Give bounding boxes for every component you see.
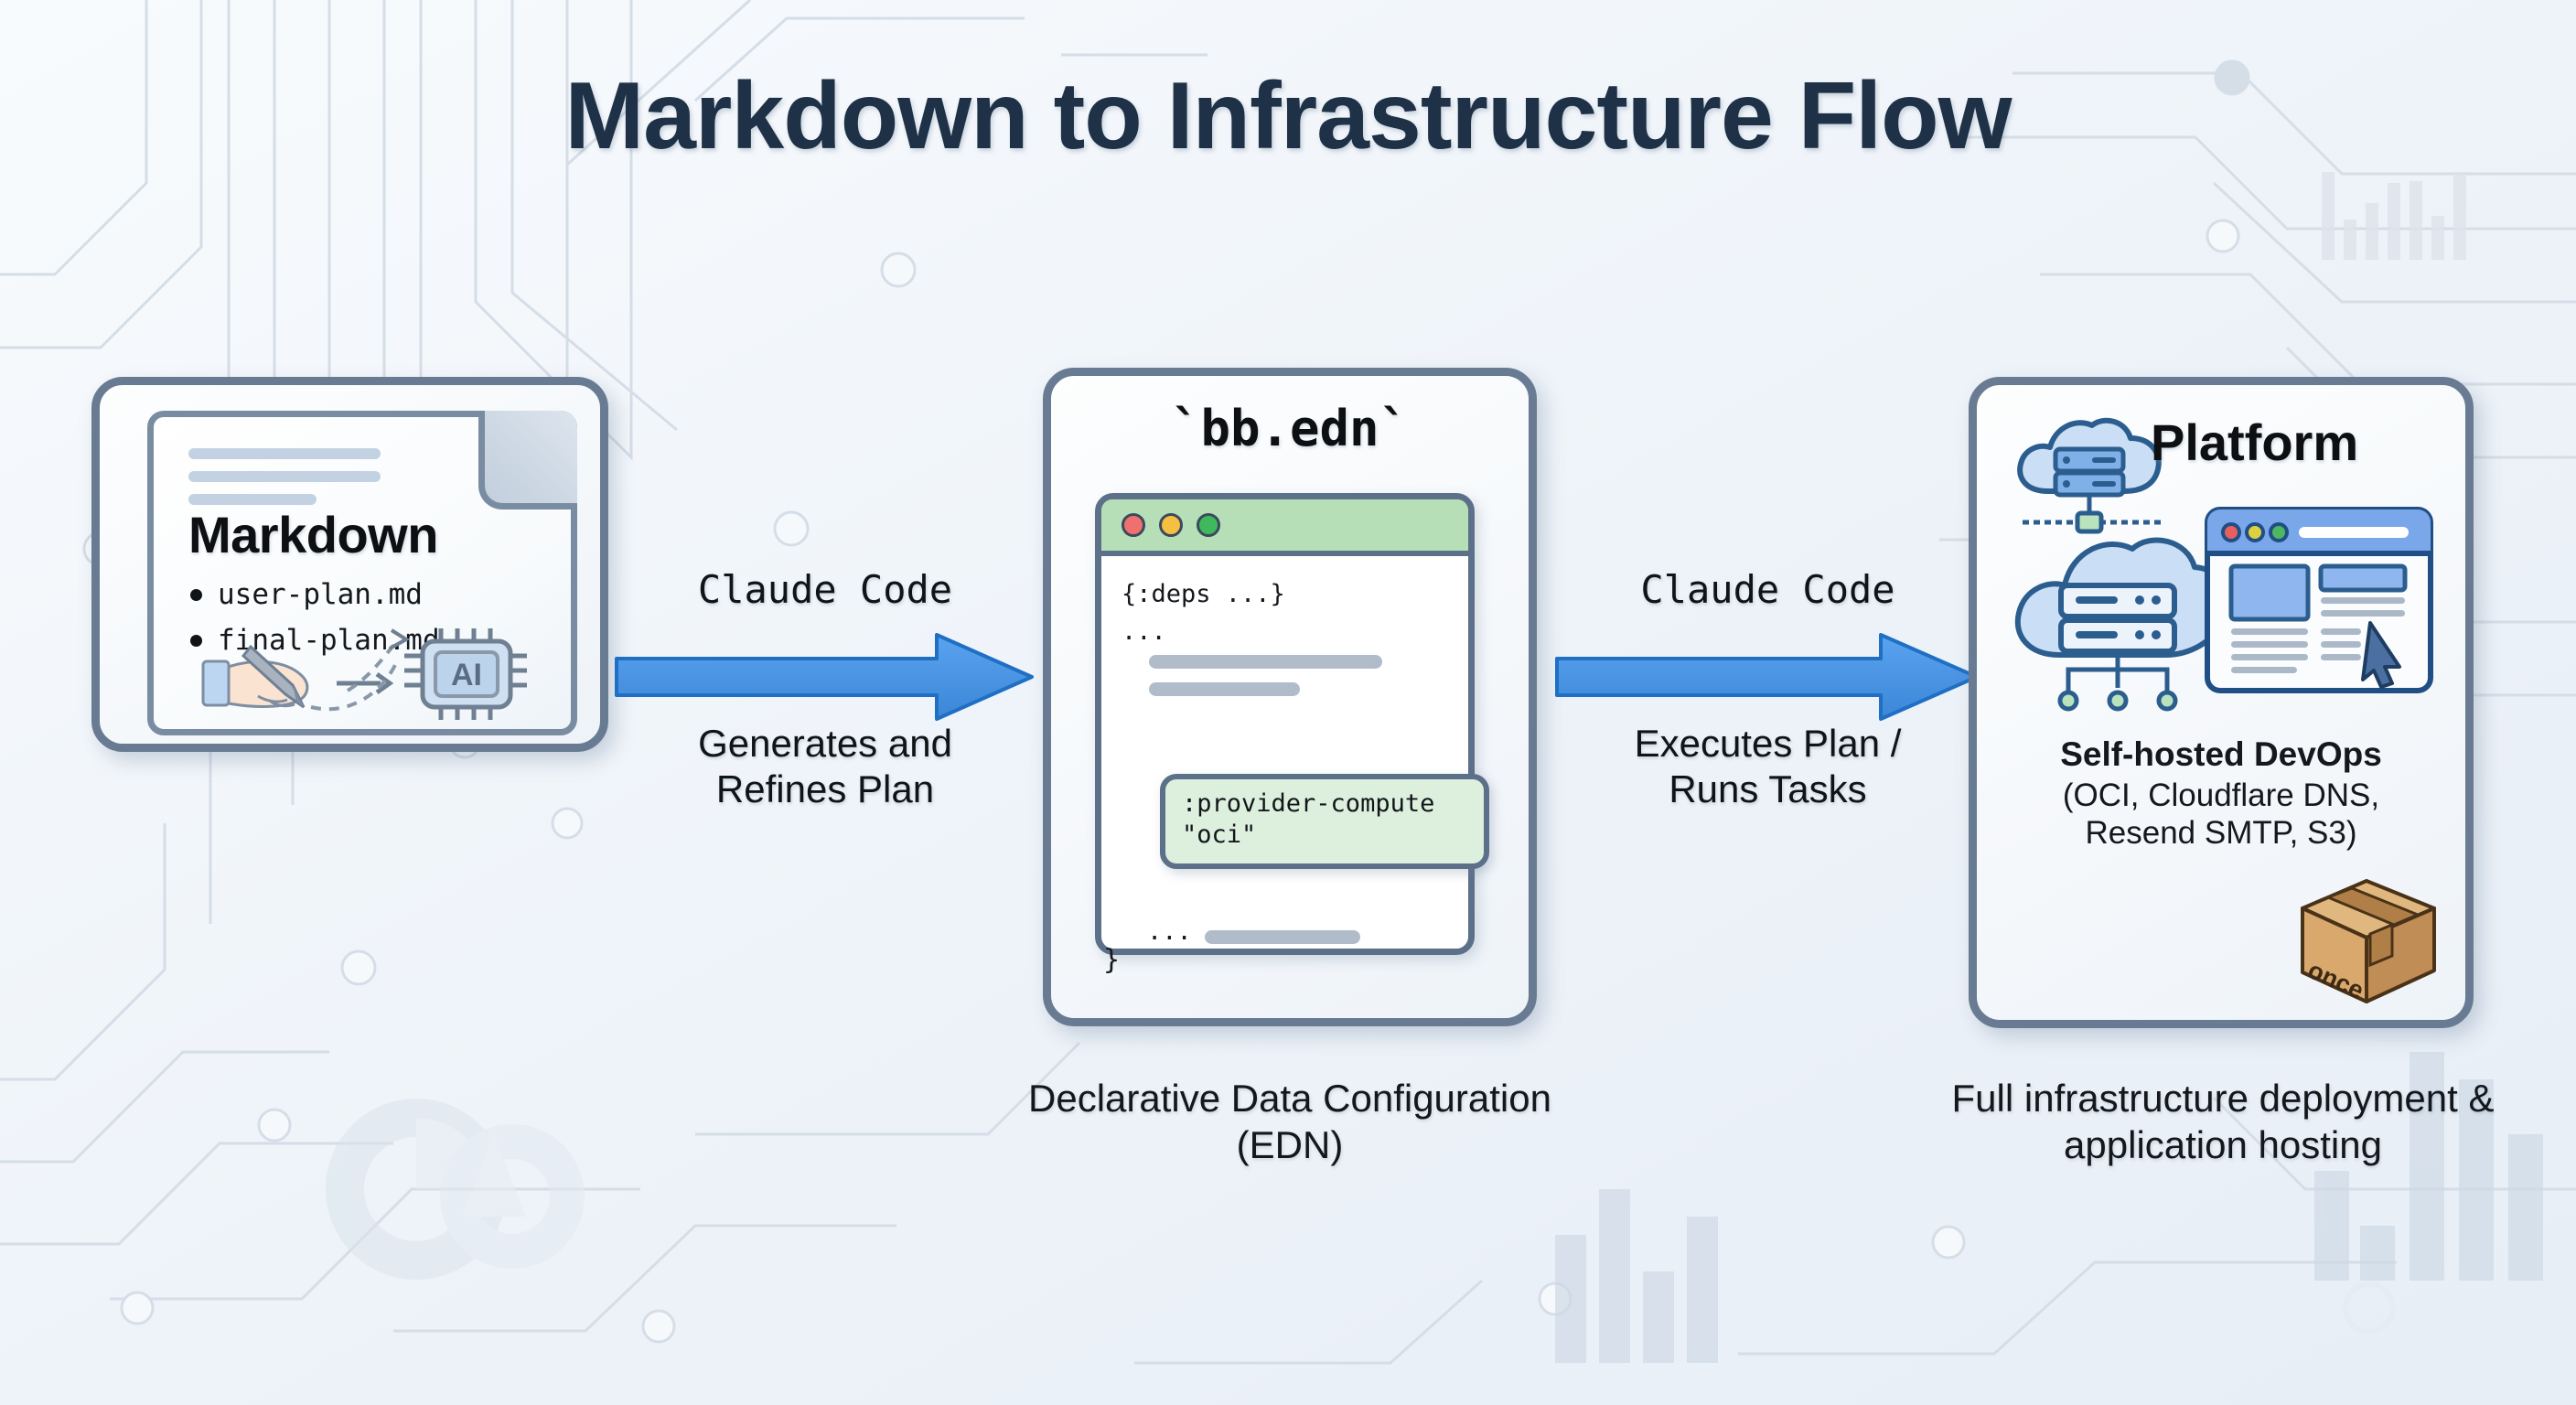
edn-heading: `bb.edn` <box>1051 400 1529 457</box>
code-tail-ellipsis: ... <box>1147 917 1192 946</box>
blue-arrow-icon <box>1555 631 1980 723</box>
provider-compute-highlight: :provider-compute "oci" <box>1160 774 1489 869</box>
arrow-top-label: Claude Code <box>1555 567 1980 612</box>
ai-chip-label: AI <box>451 658 482 692</box>
code-body: {:deps ...} ... ... } <box>1101 556 1468 696</box>
card-bb-edn[interactable]: `bb.edn` {:deps ...} ... ... <box>1043 368 1537 1026</box>
code-window-titlebar <box>1101 499 1468 556</box>
platform-subtitle-line3: Resend SMTP, S3) <box>2086 815 2357 851</box>
arrow-bottom-line2: Runs Tasks <box>1669 767 1866 810</box>
card-markdown[interactable]: Markdown user-plan.md final-plan.md <box>91 377 608 752</box>
card-platform[interactable]: Platform <box>1969 377 2474 1028</box>
caption-edn-text: Declarative Data Configuration (EDN) <box>1028 1077 1551 1166</box>
markdown-heading: Markdown <box>188 505 438 564</box>
code-placeholder-bar <box>1149 682 1300 696</box>
traffic-light-red-icon[interactable] <box>1122 513 1145 537</box>
platform-heading: Platform <box>2151 413 2358 472</box>
arrow-bottom-line1: Generates and <box>698 722 952 765</box>
caption-edn: Declarative Data Configuration (EDN) <box>970 1075 1610 1168</box>
diagram-stage: Markdown to Infrastructure Flow Markdown… <box>0 0 2576 1405</box>
platform-subtitle: Self-hosted DevOps (OCI, Cloudflare DNS,… <box>1977 735 2465 852</box>
document-page: Markdown user-plan.md final-plan.md <box>147 411 577 735</box>
page-title: Markdown to Infrastructure Flow <box>0 62 2576 171</box>
arrow-top-label: Claude Code <box>615 567 1036 612</box>
platform-subtitle-line2: (OCI, Cloudflare DNS, <box>2063 778 2379 813</box>
cloud-infrastructure-icon <box>2004 509 2233 728</box>
arrow-bottom-label: Executes Plan / Runs Tasks <box>1555 721 1980 811</box>
arrow-bottom-line1: Executes Plan / <box>1635 722 1902 765</box>
code-closing-brace: } <box>1103 944 1131 976</box>
page-fold-corner <box>478 411 577 509</box>
browser-window-icon <box>2204 506 2434 694</box>
blue-arrow-icon <box>615 631 1036 723</box>
highlight-line-2: "oci" <box>1182 820 1471 851</box>
code-window: {:deps ...} ... ... } <box>1095 493 1475 955</box>
caption-platform: Full infrastructure deployment & applica… <box>1939 1075 2506 1168</box>
traffic-light-green-icon[interactable] <box>1197 513 1220 537</box>
code-line-deps: {:deps ...} <box>1122 580 1468 608</box>
code-placeholder-bar <box>1149 655 1382 669</box>
code-tail: ... } <box>1101 917 1468 976</box>
list-item: user-plan.md <box>190 578 440 611</box>
code-line-ellipsis: ... <box>1122 617 1468 646</box>
package-box-icon: once <box>2292 868 2445 1007</box>
platform-subtitle-strong: Self-hosted DevOps <box>1977 735 2465 775</box>
caption-platform-text: Full infrastructure deployment & applica… <box>1952 1077 2495 1166</box>
arrow-bottom-label: Generates and Refines Plan <box>615 721 1036 811</box>
traffic-light-yellow-icon[interactable] <box>1159 513 1183 537</box>
hand-writing-to-ai-chip-icon: AI <box>201 625 540 724</box>
highlight-line-1: :provider-compute <box>1182 788 1471 820</box>
code-placeholder-bar <box>1205 930 1360 944</box>
arrow-bottom-line2: Refines Plan <box>716 767 934 810</box>
